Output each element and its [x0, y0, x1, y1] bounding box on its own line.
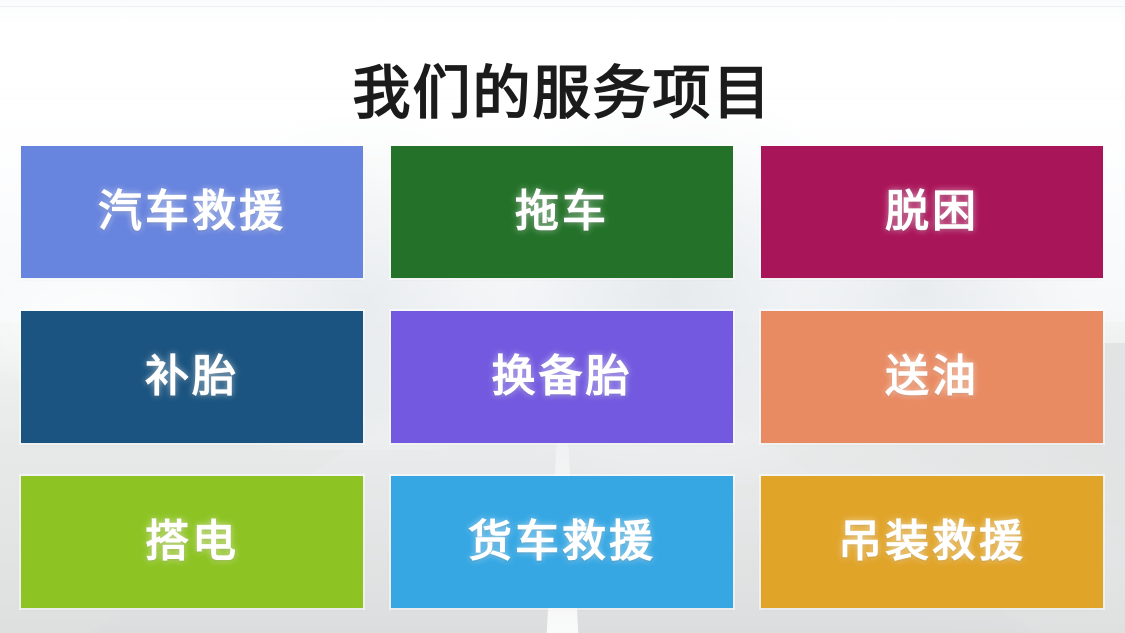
- service-grid: 汽车救援 拖车 脱困 补胎 换备胎 送油 搭电 货车救援 吊装救援: [21, 146, 1104, 608]
- service-tile-label: 吊装救援: [838, 520, 1026, 564]
- top-divider: [0, 6, 1125, 7]
- service-tile-extrication[interactable]: 脱困: [761, 146, 1103, 278]
- service-tile-label: 货车救援: [468, 520, 656, 564]
- service-tile-label: 送油: [885, 355, 979, 399]
- service-tile-label: 脱困: [885, 190, 979, 234]
- service-tile-tire-repair[interactable]: 补胎: [21, 311, 363, 443]
- service-tile-label: 汽车救援: [98, 190, 286, 234]
- service-tile-label: 拖车: [515, 190, 609, 234]
- service-tile-car-rescue[interactable]: 汽车救援: [21, 146, 363, 278]
- service-tile-crane-rescue[interactable]: 吊装救援: [761, 476, 1103, 608]
- service-tile-towing[interactable]: 拖车: [391, 146, 733, 278]
- page-title: 我们的服务项目: [0, 61, 1125, 127]
- service-tile-label: 补胎: [145, 355, 239, 399]
- service-tile-label: 换备胎: [492, 355, 633, 399]
- service-tile-label: 搭电: [145, 520, 239, 564]
- service-menu-screen: 我们的服务项目 汽车救援 拖车 脱困 补胎 换备胎 送油 搭电 货车救援 吊装救…: [0, 0, 1125, 633]
- service-tile-truck-rescue[interactable]: 货车救援: [391, 476, 733, 608]
- service-tile-fuel-delivery[interactable]: 送油: [761, 311, 1103, 443]
- service-tile-jump-start[interactable]: 搭电: [21, 476, 363, 608]
- service-tile-spare-tire-change[interactable]: 换备胎: [391, 311, 733, 443]
